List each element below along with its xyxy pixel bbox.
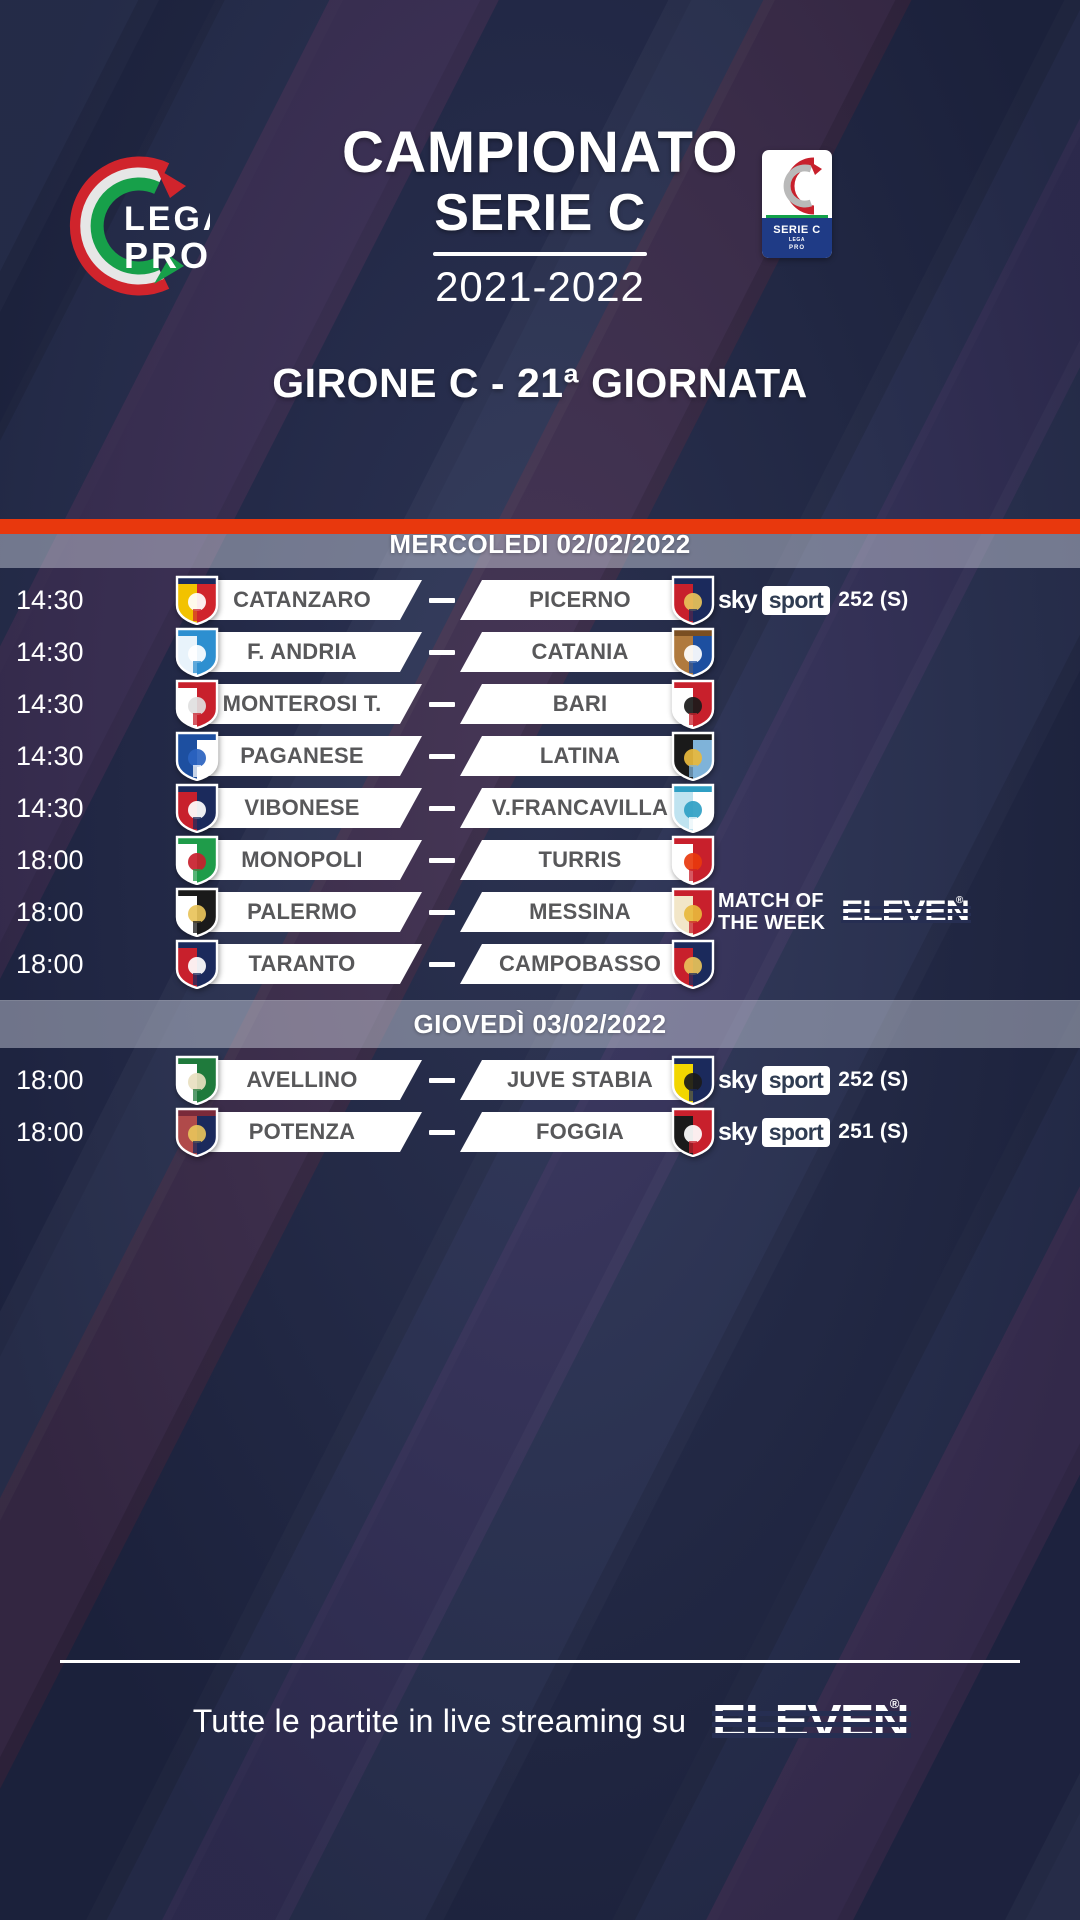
away-team-plate[interactable]: JUVE STABIA (460, 1060, 692, 1100)
eleven-logo-slash (712, 1733, 911, 1738)
eleven-logo-footer: ELEVEN ® (712, 1697, 887, 1745)
away-team-name: PICERNO (529, 587, 631, 613)
catanzaro-crest (174, 575, 220, 625)
away-team-plate[interactable]: PICERNO (460, 580, 692, 620)
monterosi-crest (174, 679, 220, 729)
campobasso-crest (670, 939, 716, 989)
home-team-plate[interactable]: PALERMO (190, 892, 422, 932)
home-team-plate[interactable]: F. ANDRIA (190, 632, 422, 672)
header: LEGA PRO SERIE C LEGA PRO CAMPIONATO SER… (0, 0, 1080, 520)
away-team-plate[interactable]: CATANIA (460, 632, 692, 672)
title-divider (433, 252, 647, 256)
francavilla-crest (670, 783, 716, 833)
match-time: 14:30 (0, 782, 96, 834)
match-teams: PAGANESELATINA (96, 730, 716, 782)
latina-crest (670, 731, 716, 781)
home-team-plate[interactable]: POTENZA (190, 1112, 422, 1152)
season-label: 2021-2022 (0, 264, 1080, 310)
home-team-name: F. ANDRIA (247, 639, 357, 665)
match-teams: MONTEROSI T.BARI (96, 678, 716, 730)
sky-sport-logo: skysport (718, 1118, 830, 1147)
match-row[interactable]: 18:00POTENZAFOGGIAskysport251 (S) (0, 1106, 1080, 1158)
potenza-crest (174, 1107, 220, 1157)
home-team-name: POTENZA (249, 1119, 356, 1145)
home-team-name: TARANTO (249, 951, 356, 977)
match-teams: F. ANDRIACATANIA (96, 626, 716, 678)
versus-dash (429, 1130, 455, 1135)
home-team-plate[interactable]: VIBONESE (190, 788, 422, 828)
broadcast-info: skysport252 (S) (718, 574, 909, 626)
away-team-name: CATANIA (531, 639, 628, 665)
date-label: GIOVEDÌ 03/02/2022 (414, 1009, 667, 1040)
home-team-plate[interactable]: MONOPOLI (190, 840, 422, 880)
title-block: CAMPIONATO SERIE C 2021-2022 (0, 122, 1080, 310)
versus-dash (429, 1078, 455, 1083)
eleven-logo-slash (841, 920, 971, 923)
poster: LEGA PRO SERIE C LEGA PRO CAMPIONATO SER… (0, 0, 1080, 1920)
away-team-plate[interactable]: BARI (460, 684, 692, 724)
away-team-name: FOGGIA (536, 1119, 624, 1145)
match-time: 18:00 (0, 834, 96, 886)
away-team-plate[interactable]: FOGGIA (460, 1112, 692, 1152)
home-team-plate[interactable]: MONTEROSI T. (190, 684, 422, 724)
sky-wordmark: sky (718, 1068, 757, 1093)
match-row[interactable]: 14:30CATANZAROPICERNOskysport252 (S) (0, 574, 1080, 626)
channel-number: 251 (S) (838, 1120, 908, 1144)
page-title-line1: CAMPIONATO (0, 122, 1080, 184)
monopoli-crest (174, 835, 220, 885)
match-teams: TARANTOCAMPOBASSO (96, 938, 716, 990)
versus-dash (429, 702, 455, 707)
home-team-plate[interactable]: AVELLINO (190, 1060, 422, 1100)
match-time: 14:30 (0, 574, 96, 626)
away-team-name: LATINA (540, 743, 620, 769)
match-teams: CATANZAROPICERNO (96, 574, 716, 626)
match-time: 14:30 (0, 626, 96, 678)
match-row[interactable]: 14:30F. ANDRIACATANIA (0, 626, 1080, 678)
sport-wordmark: sport (762, 586, 831, 615)
eleven-logo-slash (712, 1722, 911, 1727)
match-time: 14:30 (0, 678, 96, 730)
date-band: GIOVEDÌ 03/02/2022 (0, 1000, 1080, 1048)
foggia-crest (670, 1107, 716, 1157)
taranto-crest (174, 939, 220, 989)
channel-number: 252 (S) (838, 588, 908, 612)
eleven-logo-slash (841, 913, 971, 916)
versus-dash (429, 962, 455, 967)
home-team-name: AVELLINO (246, 1067, 357, 1093)
away-team-name: BARI (553, 691, 608, 717)
versus-dash (429, 650, 455, 655)
catania-crest (670, 627, 716, 677)
away-team-plate[interactable]: MESSINA (460, 892, 692, 932)
match-teams: VIBONESEV.FRANCAVILLA (96, 782, 716, 834)
vibonese-crest (174, 783, 220, 833)
match-teams: PALERMOMESSINA (96, 886, 716, 938)
juve-stabia-crest (670, 1055, 716, 1105)
match-row[interactable]: 14:30VIBONESEV.FRANCAVILLA (0, 782, 1080, 834)
palermo-crest (174, 887, 220, 937)
match-time: 18:00 (0, 886, 96, 938)
versus-dash (429, 598, 455, 603)
match-row[interactable]: 18:00AVELLINOJUVE STABIAskysport252 (S) (0, 1054, 1080, 1106)
home-team-plate[interactable]: PAGANESE (190, 736, 422, 776)
away-team-name: V.FRANCAVILLA (492, 795, 668, 821)
versus-dash (429, 858, 455, 863)
match-row[interactable]: 18:00PALERMOMESSINAMATCH OFTHE WEEKELEVE… (0, 886, 1080, 938)
match-row[interactable]: 18:00MONOPOLITURRIS (0, 834, 1080, 886)
footer-divider (60, 1660, 1020, 1663)
match-list: 18:00AVELLINOJUVE STABIAskysport252 (S)1… (0, 1048, 1080, 1158)
avellino-crest (174, 1055, 220, 1105)
motw-line2: THE WEEK (718, 912, 825, 934)
match-row[interactable]: 14:30PAGANESELATINA (0, 730, 1080, 782)
away-team-name: MESSINA (529, 899, 631, 925)
away-team-name: JUVE STABIA (507, 1067, 653, 1093)
match-time: 18:00 (0, 938, 96, 990)
broadcast-info: skysport252 (S) (718, 1054, 909, 1106)
home-team-name: MONOPOLI (241, 847, 362, 873)
home-team-name: VIBONESE (244, 795, 359, 821)
away-team-plate[interactable]: LATINA (460, 736, 692, 776)
trademark-icon: ® (956, 895, 963, 906)
page-title-line2: SERIE C (0, 184, 1080, 242)
match-time: 18:00 (0, 1054, 96, 1106)
match-of-the-week-badge: MATCH OFTHE WEEK (718, 890, 825, 934)
away-team-plate[interactable]: TURRIS (460, 840, 692, 880)
footer: Tutte le partite in live streaming su EL… (0, 1660, 1080, 1745)
messina-crest (670, 887, 716, 937)
home-team-name: CATANZARO (233, 587, 371, 613)
away-team-plate[interactable]: CAMPOBASSO (460, 944, 692, 984)
away-team-name: TURRIS (538, 847, 621, 873)
eleven-logo-slash (841, 906, 971, 909)
match-teams: AVELLINOJUVE STABIA (96, 1054, 716, 1106)
sky-sport-logo: skysport (718, 586, 830, 615)
sky-wordmark: sky (718, 588, 757, 613)
paganese-crest (174, 731, 220, 781)
trademark-icon: ® (890, 1696, 900, 1711)
match-row[interactable]: 14:30MONTEROSI T.BARI (0, 678, 1080, 730)
group-round-title: GIRONE C - 21ª GIORNATA (0, 360, 1080, 407)
away-team-plate[interactable]: V.FRANCAVILLA (460, 788, 692, 828)
versus-dash (429, 806, 455, 811)
broadcast-info: MATCH OFTHE WEEKELEVEN® (718, 886, 955, 938)
home-team-name: MONTEROSI T. (223, 691, 382, 717)
match-time: 14:30 (0, 730, 96, 782)
picerno-crest (670, 575, 716, 625)
versus-dash (429, 910, 455, 915)
sport-wordmark: sport (762, 1118, 831, 1147)
turris-crest (670, 835, 716, 885)
accent-bar (0, 519, 1080, 534)
footer-content: Tutte le partite in live streaming su EL… (0, 1697, 1080, 1745)
versus-dash (429, 754, 455, 759)
footer-text: Tutte le partite in live streaming su (193, 1703, 687, 1740)
schedule: MERCOLEDÌ 02/02/202214:30CATANZAROPICERN… (0, 520, 1080, 1158)
home-team-name: PALERMO (247, 899, 357, 925)
channel-number: 252 (S) (838, 1068, 908, 1092)
match-list: 14:30CATANZAROPICERNOskysport252 (S)14:3… (0, 568, 1080, 1000)
sky-sport-logo: skysport (718, 1066, 830, 1095)
eleven-logo: ELEVEN® (841, 896, 955, 928)
away-team-name: CAMPOBASSO (499, 951, 661, 977)
bari-crest (670, 679, 716, 729)
eleven-wordmark: ELEVEN (841, 896, 969, 928)
broadcast-info: skysport251 (S) (718, 1106, 909, 1158)
match-teams: MONOPOLITURRIS (96, 834, 716, 886)
match-time: 18:00 (0, 1106, 96, 1158)
home-team-plate[interactable]: TARANTO (190, 944, 422, 984)
sky-wordmark: sky (718, 1120, 757, 1145)
eleven-logo-slash (712, 1711, 911, 1716)
match-teams: POTENZAFOGGIA (96, 1106, 716, 1158)
sport-wordmark: sport (762, 1066, 831, 1095)
fidelis-andria-crest (174, 627, 220, 677)
match-row[interactable]: 18:00TARANTOCAMPOBASSO (0, 938, 1080, 990)
home-team-plate[interactable]: CATANZARO (190, 580, 422, 620)
home-team-name: PAGANESE (240, 743, 363, 769)
motw-line1: MATCH OF (718, 890, 825, 912)
